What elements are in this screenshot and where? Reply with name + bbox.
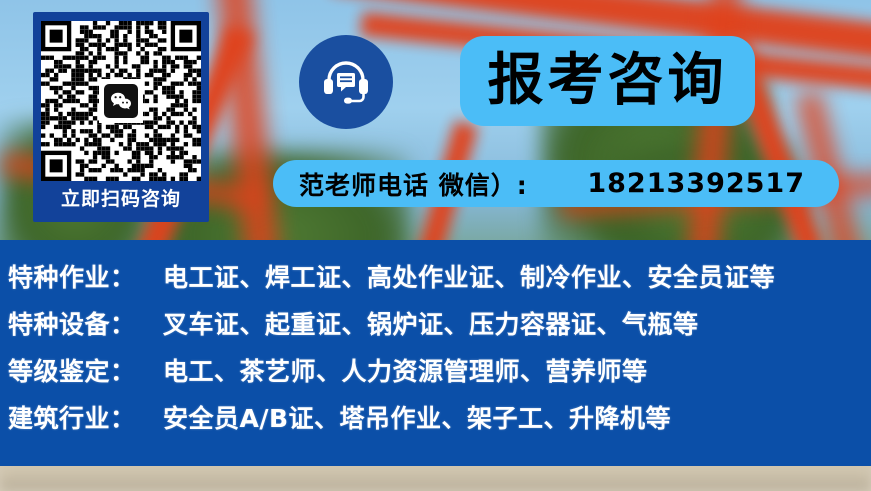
service-row: 建筑行业： 安全员A/B证、塔吊作业、架子工、升降机等 xyxy=(8,399,868,446)
contact-pill[interactable]: 范老师电话 微信）: 18213392517 xyxy=(273,160,839,207)
service-row: 特种作业： 电工证、焊工证、高处作业证、制冷作业、安全员证等 xyxy=(8,258,868,305)
qr-caption: 立即扫码咨询 xyxy=(61,190,181,209)
contact-phone-number[interactable]: 18213392517 xyxy=(587,168,813,199)
contact-label: 范老师电话 微信）: xyxy=(299,166,528,202)
service-row: 特种设备： 叉车证、起重证、锅炉证、压力容器证、气瓶等 xyxy=(8,305,868,352)
title-pill: 报考咨询 xyxy=(460,36,755,126)
page-title: 报考咨询 xyxy=(488,53,728,109)
service-items: 叉车证、起重证、锅炉证、压力容器证、气瓶等 xyxy=(163,305,699,341)
service-category: 等级鉴定： xyxy=(8,352,163,388)
service-category: 特种作业： xyxy=(8,258,163,294)
service-list: 特种作业： 电工证、焊工证、高处作业证、制冷作业、安全员证等 特种设备： 叉车证… xyxy=(8,258,868,446)
service-category: 特种设备： xyxy=(8,305,163,341)
service-items: 电工证、焊工证、高处作业证、制冷作业、安全员证等 xyxy=(163,258,775,294)
qr-code[interactable] xyxy=(41,21,201,181)
service-items: 电工、茶艺师、人力资源管理师、营养师等 xyxy=(163,352,648,388)
wechat-icon xyxy=(104,84,138,118)
qr-card[interactable]: 立即扫码咨询 xyxy=(33,12,209,222)
promo-banner: 立即扫码咨询 报考咨询 范老师电话 微信）: 18213392517 特 xyxy=(0,0,871,491)
service-row: 等级鉴定： 电工、茶艺师、人力资源管理师、营养师等 xyxy=(8,352,868,399)
headset-chat-icon xyxy=(299,35,393,129)
service-items: 安全员A/B证、塔吊作业、架子工、升降机等 xyxy=(163,399,671,435)
service-category: 建筑行业： xyxy=(8,399,163,435)
